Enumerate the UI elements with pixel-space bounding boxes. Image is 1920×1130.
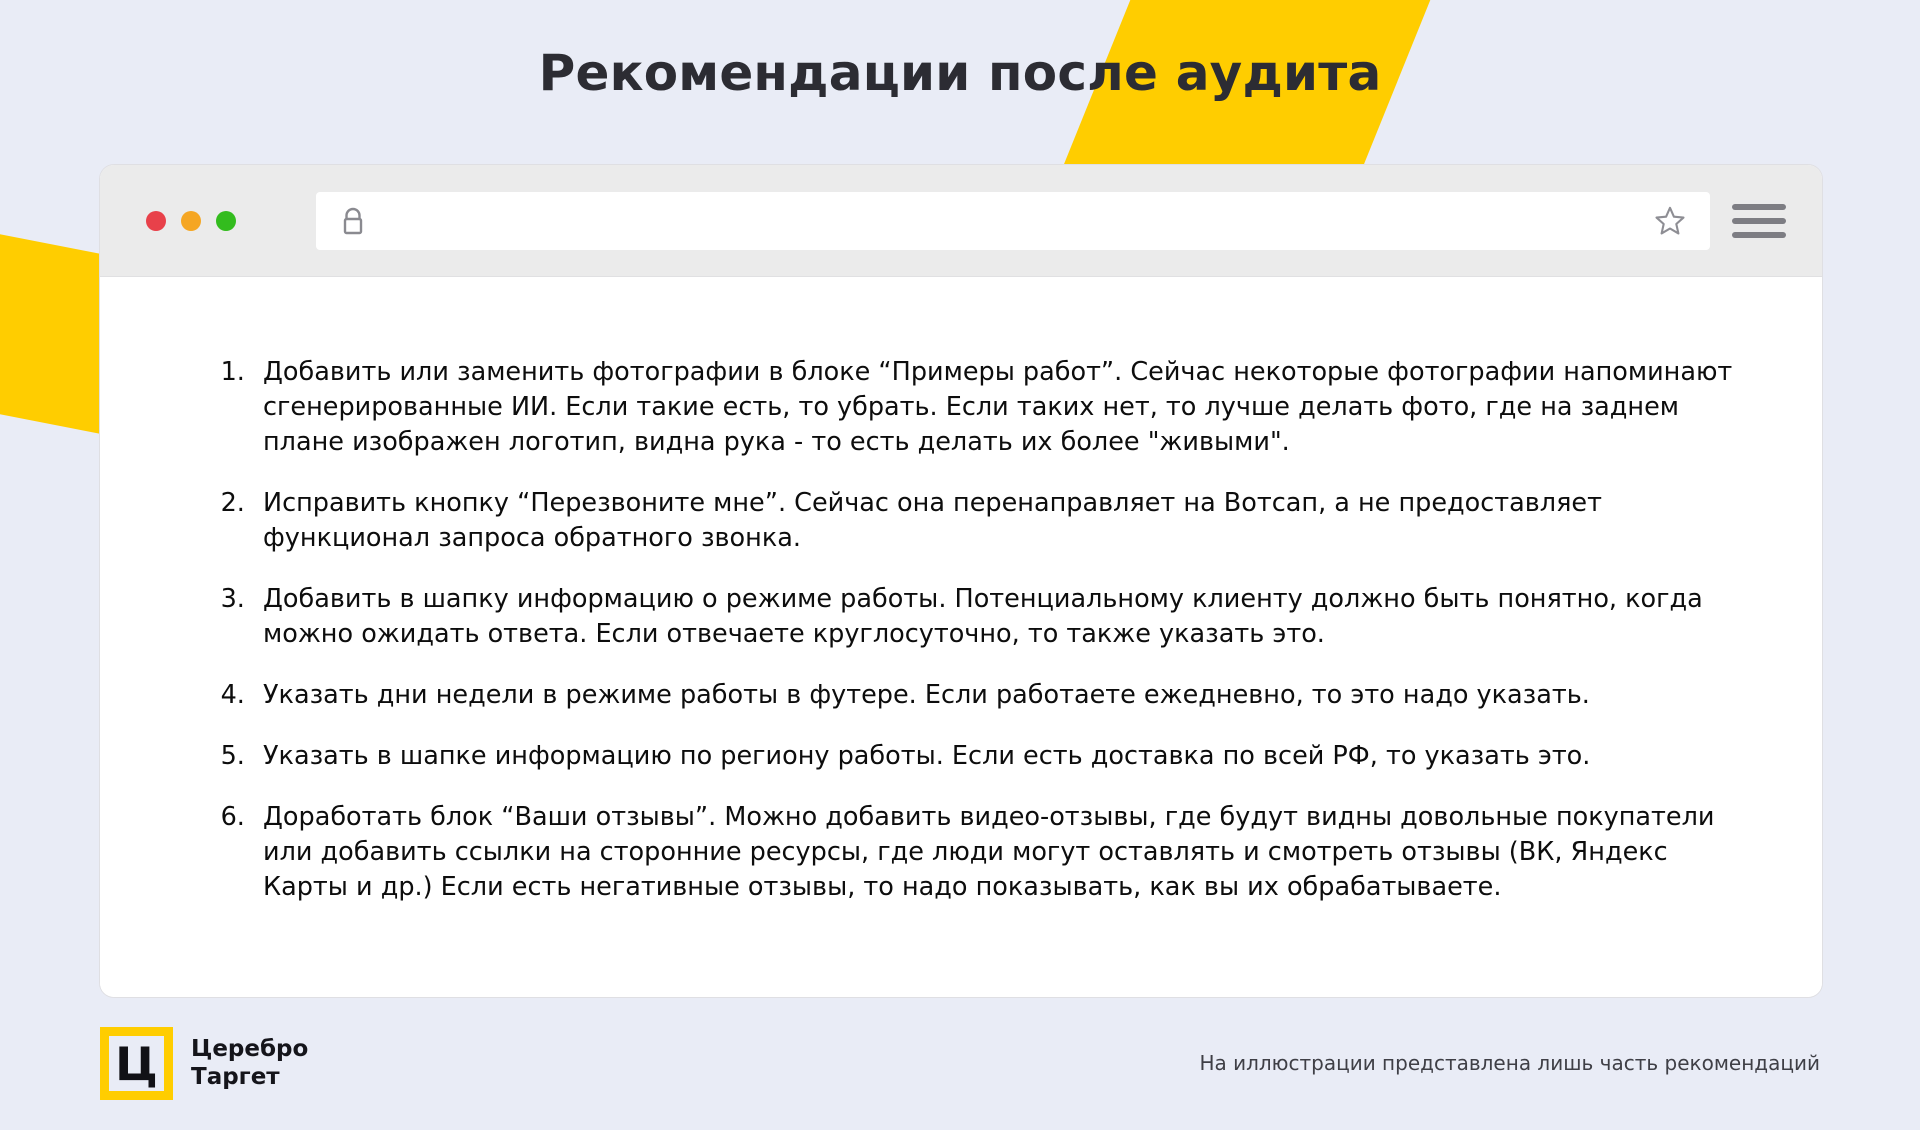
brand-name-line-2: Таргет — [191, 1064, 308, 1091]
browser-toolbar — [100, 165, 1822, 277]
recommendations-list: Добавить или заменить фотографии в блоке… — [215, 355, 1752, 905]
brand-logo: Ц Церебро Таргет — [100, 1027, 308, 1100]
menu-line-2 — [1732, 218, 1786, 224]
browser-window-mockup: Добавить или заменить фотографии в блоке… — [100, 165, 1822, 997]
lock-icon — [338, 205, 368, 237]
brand-mark-icon: Ц — [100, 1027, 173, 1100]
list-item-text: Доработать блок “Ваши отзывы”. Можно доб… — [263, 800, 1752, 905]
list-item: Добавить или заменить фотографии в блоке… — [253, 355, 1752, 460]
list-item-text: Исправить кнопку “Перезвоните мне”. Сейч… — [263, 486, 1752, 556]
page-title: Рекомендации после аудита — [0, 44, 1920, 102]
list-item: Доработать блок “Ваши отзывы”. Можно доб… — [253, 800, 1752, 905]
list-item: Добавить в шапку информацию о режиме раб… — [253, 582, 1752, 652]
list-item: Указать дни недели в режиме работы в фут… — [253, 678, 1752, 713]
menu-line-1 — [1732, 204, 1786, 210]
star-icon[interactable] — [1652, 203, 1688, 239]
list-item-text: Добавить или заменить фотографии в блоке… — [263, 355, 1752, 460]
list-item: Исправить кнопку “Перезвоните мне”. Сейч… — [253, 486, 1752, 556]
close-window-button[interactable] — [146, 211, 166, 231]
minimize-window-button[interactable] — [181, 211, 201, 231]
menu-line-3 — [1732, 232, 1786, 238]
page-footer: Ц Церебро Таргет На иллюстрации представ… — [0, 1005, 1920, 1130]
hamburger-menu-icon[interactable] — [1732, 201, 1786, 241]
window-traffic-lights — [146, 211, 236, 231]
footer-note: На иллюстрации представлена лишь часть р… — [1199, 1051, 1820, 1075]
brand-glyph: Ц — [115, 1041, 158, 1087]
list-item-text: Указать в шапке информацию по региону ра… — [263, 739, 1752, 774]
maximize-window-button[interactable] — [216, 211, 236, 231]
list-item-text: Добавить в шапку информацию о режиме раб… — [263, 582, 1752, 652]
brand-name: Церебро Таргет — [191, 1036, 308, 1090]
address-bar[interactable] — [316, 192, 1710, 250]
list-item: Указать в шапке информацию по региону ра… — [253, 739, 1752, 774]
browser-viewport: Добавить или заменить фотографии в блоке… — [100, 277, 1822, 997]
list-item-text: Указать дни недели в режиме работы в фут… — [263, 678, 1752, 713]
brand-name-line-1: Церебро — [191, 1036, 308, 1062]
